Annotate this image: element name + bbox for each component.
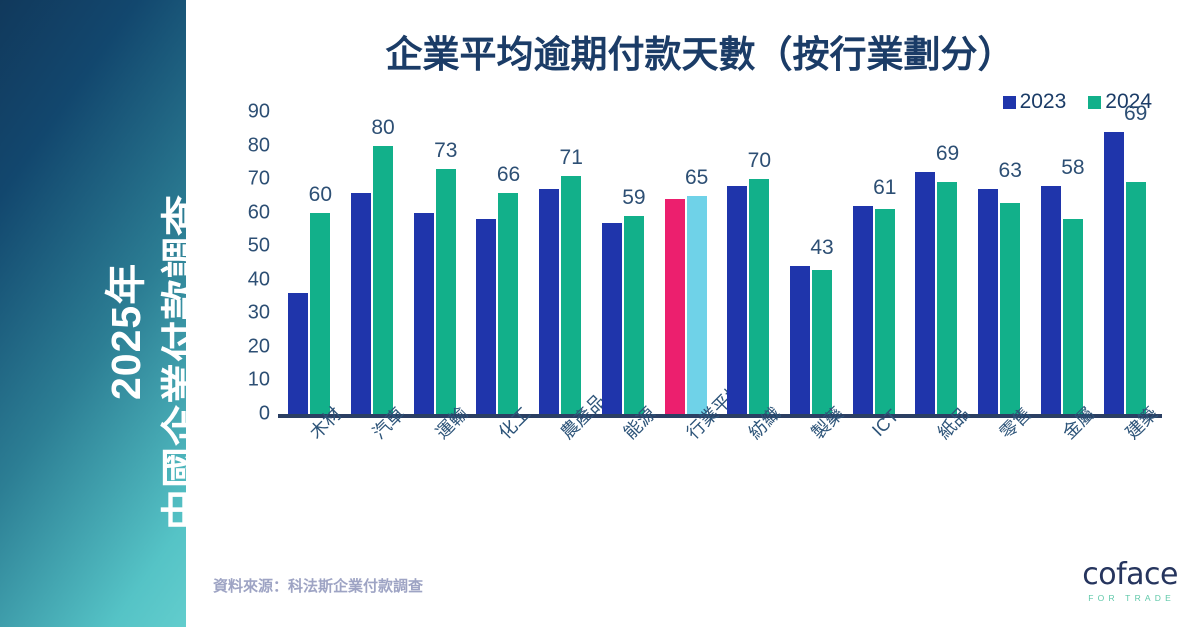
bar-2023[interactable] [1041,186,1061,414]
bar-2024[interactable] [310,213,330,414]
bar-2024[interactable] [1000,203,1020,414]
bar-2024[interactable] [561,176,581,414]
bar-2023[interactable] [351,193,371,414]
bar-2024[interactable] [749,179,769,414]
bar-group [654,112,717,414]
chart-title: 企業平均逾期付款天數（按行業劃分） [200,24,1200,78]
bar-group [968,112,1031,414]
bar-2024[interactable] [1063,219,1083,414]
logo-wordmark: coface [1082,560,1178,590]
bar-2024[interactable] [373,146,393,414]
y-axis: 9080706050403020100 [226,112,270,414]
y-tick-30: 30 [226,302,270,325]
bar-2024[interactable] [498,193,518,414]
y-tick-80: 80 [226,134,270,157]
bar-2023[interactable] [476,219,496,414]
bars-area: 60木材80汽車73運輸66化工71農產品59能源65行業平均70紡織43製藥6… [278,112,1156,414]
y-tick-10: 10 [226,369,270,392]
slide-root: 2025年 中國企業付款調查 企業平均逾期付款天數（按行業劃分） 2023202… [0,0,1200,627]
sidebar-title-subject: 中國企業付款調查 [148,194,186,530]
bar-value-label: 59 [622,186,645,210]
legend-label-2023: 2023 [1020,90,1067,114]
bar-2023[interactable] [665,199,685,414]
bar-group [780,112,843,414]
bar-value-label: 60 [309,183,332,207]
bar-value-label: 69 [936,142,959,166]
bar-value-label: 71 [560,146,583,170]
bar-group [1093,112,1156,414]
bar-2024[interactable] [624,216,644,414]
legend-item-2023[interactable]: 2023 [1003,90,1067,114]
bar-group [842,112,905,414]
bar-value-label: 70 [748,149,771,173]
coface-logo: coface FOR TRADE [1082,560,1178,603]
bar-value-label: 43 [810,236,833,260]
bar-2023[interactable] [414,213,434,414]
bar-group [466,112,529,414]
bar-2023[interactable] [539,189,559,414]
bar-value-label: 61 [873,176,896,200]
sidebar-title-year: 2025年 [92,263,152,400]
bar-2023[interactable] [915,172,935,414]
y-tick-20: 20 [226,335,270,358]
bar-value-label: 69 [1124,102,1147,126]
bar-value-label: 65 [685,166,708,190]
legend-swatch-2024 [1088,96,1101,109]
y-tick-0: 0 [226,403,270,426]
bar-group [592,112,655,414]
sidebar-banner: 2025年 中國企業付款調查 [0,0,186,627]
chart-plot-area: 9080706050403020100 60木材80汽車73運輸66化工71農產… [226,112,1156,414]
y-tick-70: 70 [226,168,270,191]
bar-value-label: 73 [434,139,457,163]
bar-value-label: 58 [1061,156,1084,180]
bar-2024[interactable] [687,196,707,414]
logo-tagline: FOR TRADE [1082,593,1178,603]
y-tick-50: 50 [226,235,270,258]
bar-2024[interactable] [937,182,957,414]
y-tick-90: 90 [226,101,270,124]
bar-2023[interactable] [1104,132,1124,414]
y-tick-40: 40 [226,268,270,291]
legend-swatch-2023 [1003,96,1016,109]
bar-2024[interactable] [812,270,832,414]
bar-2023[interactable] [288,293,308,414]
bar-2023[interactable] [602,223,622,414]
bar-group [341,112,404,414]
sidebar-text-wrap: 2025年 中國企業付款調查 [0,0,186,627]
bar-value-label: 63 [999,159,1022,183]
y-tick-60: 60 [226,201,270,224]
bar-2023[interactable] [853,206,873,414]
bar-2023[interactable] [727,186,747,414]
bar-2023[interactable] [790,266,810,414]
bar-value-label: 80 [371,116,394,140]
source-note: 資料來源：科法斯企業付款調查 [213,575,423,596]
bar-value-label: 66 [497,163,520,187]
bar-2024[interactable] [875,209,895,414]
bar-2024[interactable] [436,169,456,414]
bar-group [278,112,341,414]
bar-2024[interactable] [1126,182,1146,414]
bar-2023[interactable] [978,189,998,414]
